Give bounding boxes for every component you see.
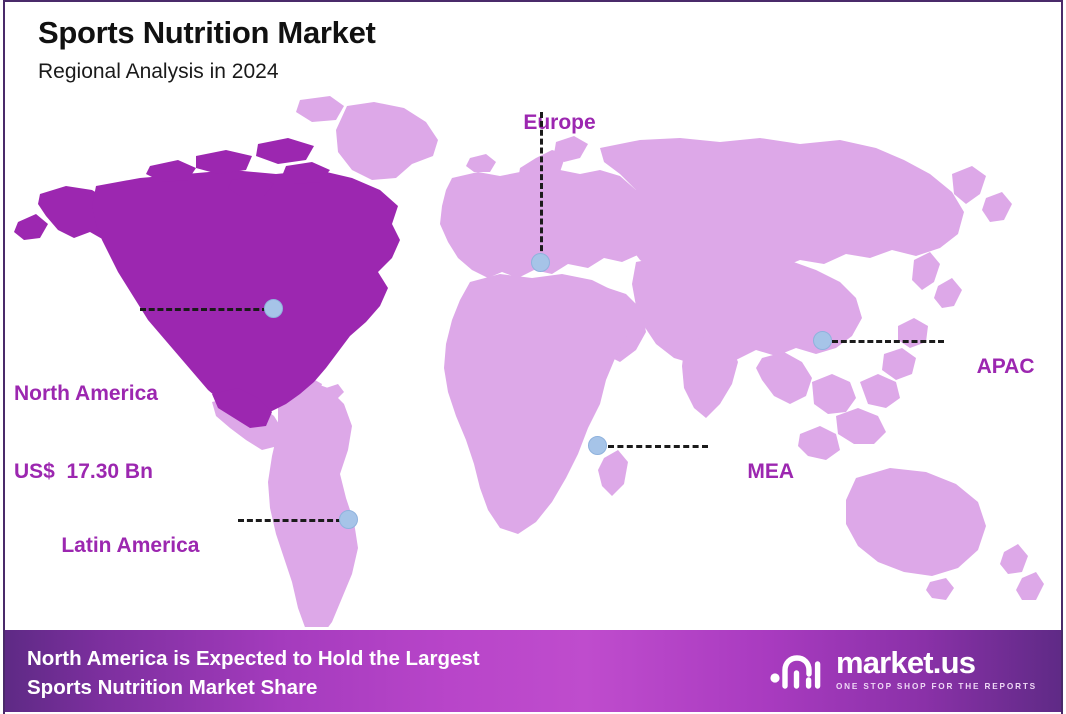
footer-headline: North America is Expected to Hold the La… [27, 644, 480, 702]
footer-banner: North America is Expected to Hold the La… [5, 630, 1061, 712]
marker-dot-europe[interactable] [531, 253, 550, 272]
market-us-logo-icon [769, 648, 827, 690]
region-label-mea: MEA [724, 433, 794, 512]
connector-mea [608, 445, 708, 448]
region-label-europe: Europe [500, 84, 596, 163]
marker-dot-apac[interactable] [813, 331, 832, 350]
header-block: Sports Nutrition Market Regional Analysi… [38, 14, 376, 84]
connector-north-america [140, 308, 268, 311]
region-name-mea: MEA [747, 460, 794, 483]
logo-wordmark: market.us ONE STOP SHOP FOR THE REPORTS [836, 647, 1037, 691]
region-name-latin-america: Latin America [61, 534, 199, 557]
region-name-apac: APAC [977, 355, 1035, 378]
marker-dot-mea[interactable] [588, 436, 607, 455]
region-label-apac: APAC [954, 328, 1035, 407]
region-value-north-america: US$ 17.30 Bn [14, 459, 158, 485]
marker-dot-latin-america[interactable] [339, 510, 358, 529]
connector-apac [832, 340, 944, 343]
region-name-north-america: North America [14, 381, 158, 407]
region-label-latin-america: Latin America [38, 507, 199, 586]
connector-latin-america [238, 519, 342, 522]
brand-logo[interactable]: market.us ONE STOP SHOP FOR THE REPORTS [769, 647, 1037, 691]
page-title: Sports Nutrition Market [38, 14, 376, 51]
connector-europe [540, 112, 543, 260]
logo-tagline: ONE STOP SHOP FOR THE REPORTS [836, 682, 1037, 691]
page-subtitle: Regional Analysis in 2024 [38, 59, 376, 84]
infographic-canvas: Sports Nutrition Market Regional Analysi… [0, 0, 1066, 714]
logo-name: market.us [836, 647, 1037, 678]
marker-dot-north-america[interactable] [264, 299, 283, 318]
region-name-europe: Europe [523, 111, 595, 134]
frame-border-top [3, 0, 1063, 2]
